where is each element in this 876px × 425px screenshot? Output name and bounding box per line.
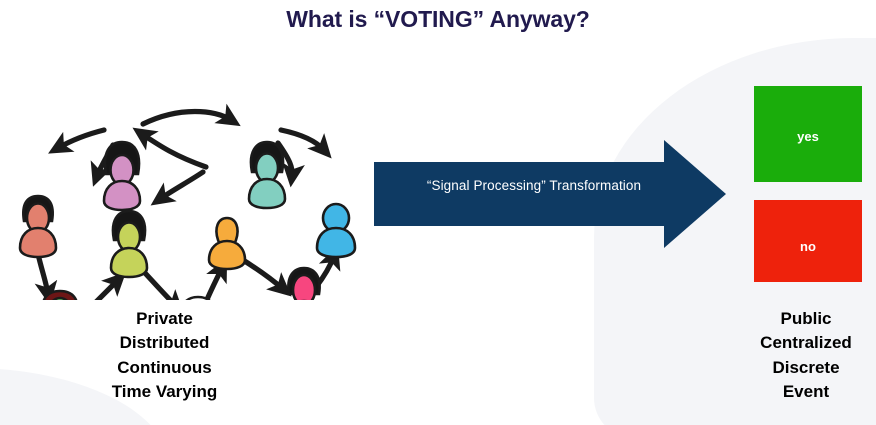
transformation-arrow xyxy=(374,140,726,248)
magenta-person xyxy=(286,268,322,300)
outcome-label-no: no xyxy=(800,239,816,254)
outcome-box-no: no xyxy=(754,200,862,282)
page-title: What is “VOTING” Anyway? xyxy=(0,6,876,33)
olive-person xyxy=(111,211,147,277)
salmon-person xyxy=(20,196,56,257)
transformation-arrow-label: “Signal Processing” Transformation xyxy=(374,178,694,193)
network-edges xyxy=(38,112,334,301)
orange-person xyxy=(209,218,245,269)
right-caption: Public Centralized Discrete Event xyxy=(735,307,876,404)
slide-canvas: What is “VOTING” Anyway? .edge { fill:no… xyxy=(0,0,876,425)
outcome-label-yes: yes xyxy=(797,129,819,144)
teal-person xyxy=(249,142,285,208)
distributed-voter-network: .edge { fill:none; stroke:#1b1b1b; strok… xyxy=(0,68,372,300)
outcome-box-yes: yes xyxy=(754,86,862,182)
orchid-person xyxy=(104,142,140,210)
network-people xyxy=(20,142,355,300)
left-caption: Private Distributed Continuous Time Vary… xyxy=(62,307,267,404)
skyblue-person xyxy=(317,204,355,257)
